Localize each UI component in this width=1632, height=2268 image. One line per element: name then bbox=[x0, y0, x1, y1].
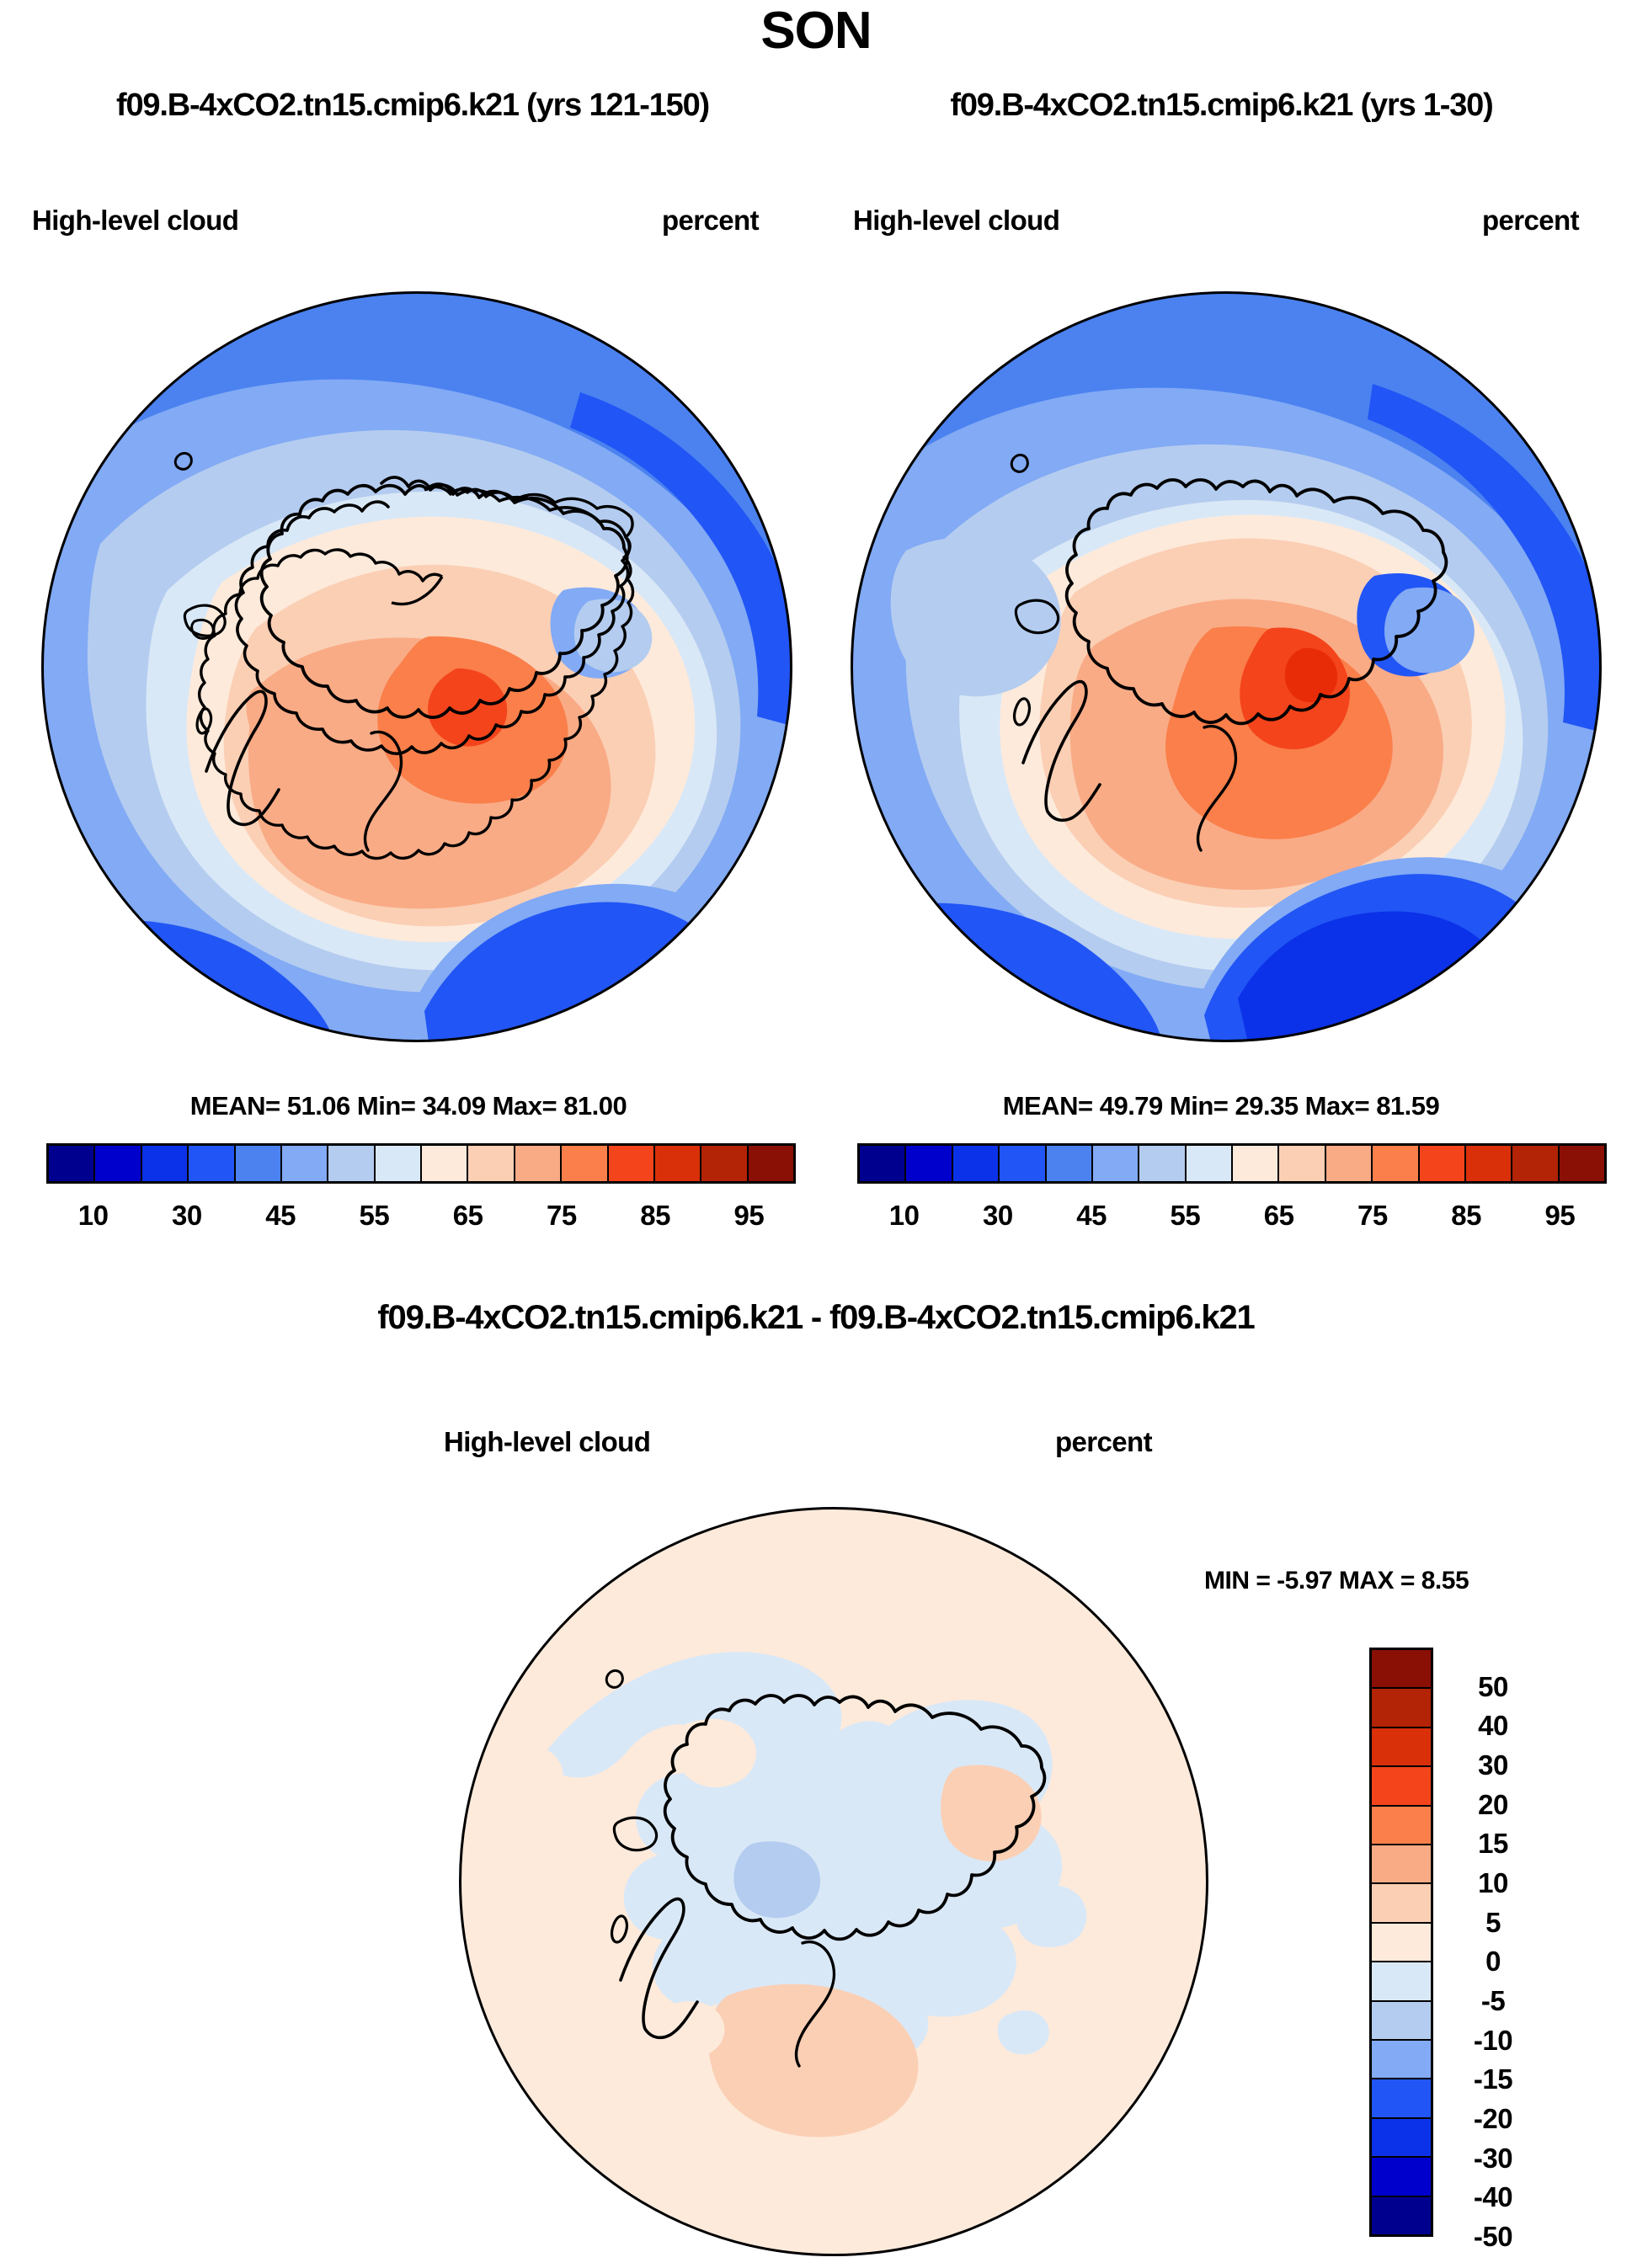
colorbar-cell bbox=[1093, 1146, 1139, 1181]
colorbar-tick-label: 45 bbox=[265, 1200, 296, 1232]
colorbar-tick-label: 65 bbox=[453, 1200, 483, 1232]
colorbar-tick: -20 bbox=[1443, 2079, 1544, 2119]
right-variable-label: High-level cloud bbox=[853, 205, 1059, 237]
colorbar-cell bbox=[906, 1146, 952, 1181]
colorbar-cell bbox=[1372, 1962, 1431, 2001]
colorbar-tick: 15 bbox=[1443, 1805, 1544, 1845]
difference-minmax-text: MIN = -5.97 MAX = 8.55 bbox=[1204, 1567, 1469, 1595]
difference-units-label: percent bbox=[1055, 1426, 1152, 1458]
colorbar-cell bbox=[1560, 1146, 1604, 1181]
colorbar-tick-label: 45 bbox=[1076, 1200, 1107, 1232]
left-panel-title: f09.B-4xCO2.tn15.cmip6.k21 (yrs 121-150) bbox=[8, 88, 817, 124]
colorbar-tick: 10 bbox=[904, 1200, 952, 1240]
colorbar-cell bbox=[609, 1146, 655, 1181]
colorbar-cell bbox=[1372, 2197, 1431, 2234]
colorbar-tick: 85 bbox=[655, 1200, 702, 1240]
colorbar-tick: 10 bbox=[93, 1200, 141, 1240]
colorbar-tick: 20 bbox=[1443, 1765, 1544, 1805]
colorbar-tick: -15 bbox=[1443, 2041, 1544, 2080]
colorbar-cell bbox=[1047, 1146, 1093, 1181]
difference-colorbar bbox=[1369, 1648, 1433, 2237]
colorbar-cell bbox=[1512, 1146, 1559, 1181]
colorbar-tick: 75 bbox=[1373, 1200, 1420, 1240]
right-units-label: percent bbox=[1482, 205, 1579, 237]
colorbar-tick-label: 10 bbox=[889, 1200, 920, 1232]
colorbar-cell bbox=[328, 1146, 375, 1181]
colorbar-cell bbox=[1372, 2119, 1431, 2158]
colorbar-cell bbox=[142, 1146, 189, 1181]
colorbar-tick-label: -50 bbox=[1474, 2221, 1512, 2253]
colorbar-tick: 50 bbox=[1443, 1648, 1544, 1687]
colorbar-cell bbox=[1372, 1884, 1431, 1923]
colorbar-cell bbox=[189, 1146, 235, 1181]
colorbar-cell bbox=[655, 1146, 701, 1181]
colorbar-cell bbox=[749, 1146, 793, 1181]
colorbar-tick-label: 95 bbox=[1545, 1200, 1576, 1232]
colorbar-cell bbox=[1372, 2041, 1431, 2079]
colorbar-cell bbox=[1372, 1845, 1431, 1884]
colorbar-cell bbox=[1372, 2002, 1431, 2041]
colorbar-tick: -5 bbox=[1443, 1962, 1544, 2001]
colorbar-cell bbox=[1420, 1146, 1466, 1181]
colorbar-tick: -50 bbox=[1443, 2197, 1544, 2237]
colorbar-tick-label: 85 bbox=[640, 1200, 670, 1232]
colorbar-tick-label: 10 bbox=[78, 1200, 109, 1232]
colorbar-tick: 10 bbox=[1443, 1844, 1544, 1883]
colorbar-cell bbox=[1372, 1807, 1431, 1845]
colorbar-cell bbox=[236, 1146, 282, 1181]
colorbar-cell bbox=[282, 1146, 328, 1181]
colorbar-cell bbox=[49, 1146, 95, 1181]
colorbar-tick-label: 55 bbox=[1171, 1200, 1201, 1232]
colorbar-tick: 30 bbox=[1443, 1726, 1544, 1765]
colorbar-cell bbox=[515, 1146, 562, 1181]
colorbar-cell bbox=[701, 1146, 748, 1181]
colorbar-cell bbox=[1372, 1767, 1431, 1806]
right-colorbar bbox=[857, 1143, 1607, 1184]
left-colorbar bbox=[46, 1143, 796, 1184]
colorbar-cell bbox=[1372, 2158, 1431, 2196]
right-map-plot bbox=[851, 291, 1602, 1042]
colorbar-tick-label: 65 bbox=[1264, 1200, 1294, 1232]
colorbar-tick: 75 bbox=[562, 1200, 609, 1240]
colorbar-cell bbox=[1372, 2079, 1431, 2118]
colorbar-tick-label: 55 bbox=[360, 1200, 390, 1232]
colorbar-cell bbox=[376, 1146, 422, 1181]
colorbar-tick-label: 30 bbox=[983, 1200, 1013, 1232]
colorbar-tick: 45 bbox=[280, 1200, 328, 1240]
colorbar-tick: 0 bbox=[1443, 1923, 1544, 1962]
colorbar-cell bbox=[422, 1146, 468, 1181]
colorbar-tick: 5 bbox=[1443, 1883, 1544, 1923]
figure-title: SON bbox=[0, 5, 1632, 57]
colorbar-tick: 40 bbox=[1443, 1687, 1544, 1727]
colorbar-tick: -30 bbox=[1443, 2119, 1544, 2159]
colorbar-cell bbox=[1372, 1650, 1431, 1689]
left-variable-label: High-level cloud bbox=[32, 205, 238, 237]
colorbar-tick: 95 bbox=[749, 1200, 796, 1240]
colorbar-cell bbox=[860, 1146, 906, 1181]
right-panel-title: f09.B-4xCO2.tn15.cmip6.k21 (yrs 1-30) bbox=[815, 88, 1628, 124]
colorbar-tick: 30 bbox=[998, 1200, 1045, 1240]
colorbar-tick: 45 bbox=[1091, 1200, 1139, 1240]
colorbar-cell bbox=[1139, 1146, 1186, 1181]
left-stats-text: MEAN= 51.06 Min= 34.09 Max= 81.00 bbox=[8, 1091, 808, 1121]
right-stats-text: MEAN= 49.79 Min= 29.35 Max= 81.59 bbox=[821, 1091, 1621, 1121]
colorbar-cell bbox=[1279, 1146, 1325, 1181]
colorbar-tick: 85 bbox=[1466, 1200, 1513, 1240]
colorbar-tick-label: 95 bbox=[734, 1200, 765, 1232]
colorbar-tick: 65 bbox=[1279, 1200, 1326, 1240]
colorbar-cell bbox=[1326, 1146, 1373, 1181]
difference-panel-title: f09.B-4xCO2.tn15.cmip6.k21 - f09.B-4xCO2… bbox=[0, 1299, 1632, 1337]
colorbar-cell bbox=[1000, 1146, 1046, 1181]
colorbar-tick: 65 bbox=[468, 1200, 515, 1240]
colorbar-tick-label: 30 bbox=[172, 1200, 202, 1232]
colorbar-tick-label: 75 bbox=[1357, 1200, 1388, 1232]
colorbar-cell bbox=[1372, 1728, 1431, 1767]
left-colorbar-ticks: 1030455565758595 bbox=[46, 1200, 796, 1240]
colorbar-cell bbox=[468, 1146, 515, 1181]
left-units-label: percent bbox=[662, 205, 759, 237]
colorbar-tick-label: 85 bbox=[1451, 1200, 1481, 1232]
difference-variable-label: High-level cloud bbox=[444, 1426, 650, 1458]
left-map-plot bbox=[41, 291, 792, 1042]
colorbar-cell bbox=[1373, 1146, 1419, 1181]
colorbar-cell bbox=[95, 1146, 141, 1181]
colorbar-tick: 30 bbox=[187, 1200, 234, 1240]
colorbar-cell bbox=[1372, 1924, 1431, 1962]
colorbar-tick: -10 bbox=[1443, 2001, 1544, 2041]
right-colorbar-ticks: 1030455565758595 bbox=[857, 1200, 1607, 1240]
colorbar-cell bbox=[1466, 1146, 1512, 1181]
difference-colorbar-ticks: 50403020151050-5-10-15-20-30-40-50 bbox=[1443, 1648, 1544, 2237]
colorbar-cell bbox=[1372, 1689, 1431, 1728]
colorbar-cell bbox=[953, 1146, 1000, 1181]
colorbar-tick: -40 bbox=[1443, 2159, 1544, 2198]
colorbar-tick: 95 bbox=[1560, 1200, 1607, 1240]
colorbar-tick: 55 bbox=[1185, 1200, 1232, 1240]
difference-map-plot bbox=[459, 1507, 1208, 2256]
colorbar-cell bbox=[1233, 1146, 1279, 1181]
colorbar-cell bbox=[1187, 1146, 1233, 1181]
colorbar-tick: 55 bbox=[374, 1200, 421, 1240]
colorbar-cell bbox=[562, 1146, 608, 1181]
colorbar-tick-label: 75 bbox=[547, 1200, 577, 1232]
